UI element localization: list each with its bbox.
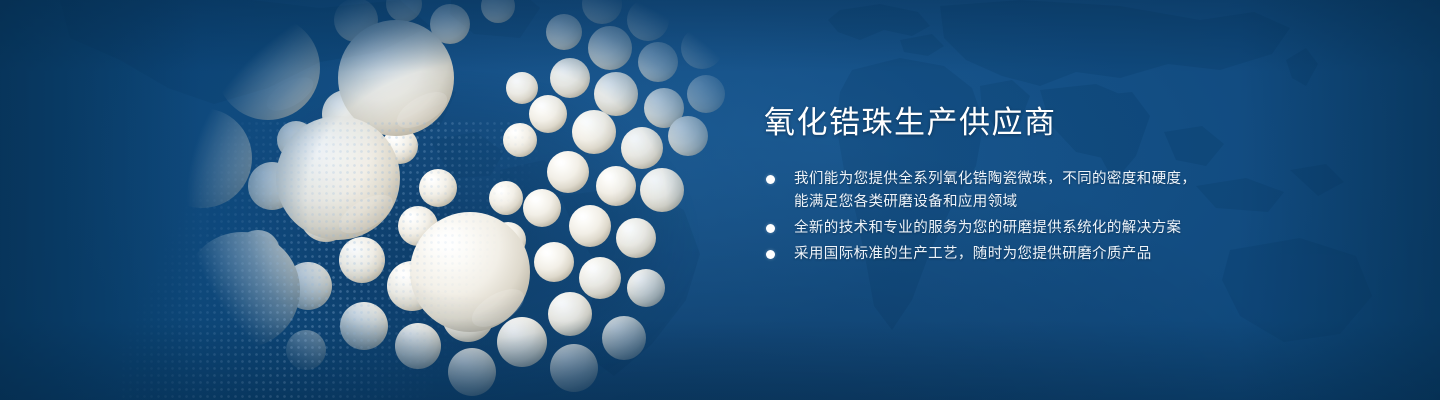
bullet-line: 全新的技术和专业的服务为您的研磨提供系统化的解决方案	[794, 217, 1244, 240]
bullet-dot-icon	[766, 250, 775, 259]
list-item: 采用国际标准的生产工艺，随时为您提供研磨介质产品	[764, 243, 1244, 266]
bullet-line: 采用国际标准的生产工艺，随时为您提供研磨介质产品	[794, 243, 1244, 266]
hero-banner: 氧化锆珠生产供应商 我们能为您提供全系列氧化锆陶瓷微珠，不同的密度和硬度， 能满…	[0, 0, 1440, 400]
banner-copy: 氧化锆珠生产供应商 我们能为您提供全系列氧化锆陶瓷微珠，不同的密度和硬度， 能满…	[764, 104, 1244, 269]
feature-list: 我们能为您提供全系列氧化锆陶瓷微珠，不同的密度和硬度， 能满足您各类研磨设备和应…	[764, 168, 1244, 266]
bullet-line: 能满足您各类研磨设备和应用领域	[794, 191, 1244, 214]
zirconia-beads-photo	[150, 0, 750, 400]
bullet-dot-icon	[766, 224, 775, 233]
bullet-line: 我们能为您提供全系列氧化锆陶瓷微珠，不同的密度和硬度，	[794, 168, 1244, 191]
list-item: 全新的技术和专业的服务为您的研磨提供系统化的解决方案	[764, 217, 1244, 240]
banner-headline: 氧化锆珠生产供应商	[764, 104, 1244, 142]
list-item: 我们能为您提供全系列氧化锆陶瓷微珠，不同的密度和硬度， 能满足您各类研磨设备和应…	[764, 168, 1244, 214]
bullet-dot-icon	[766, 175, 775, 184]
